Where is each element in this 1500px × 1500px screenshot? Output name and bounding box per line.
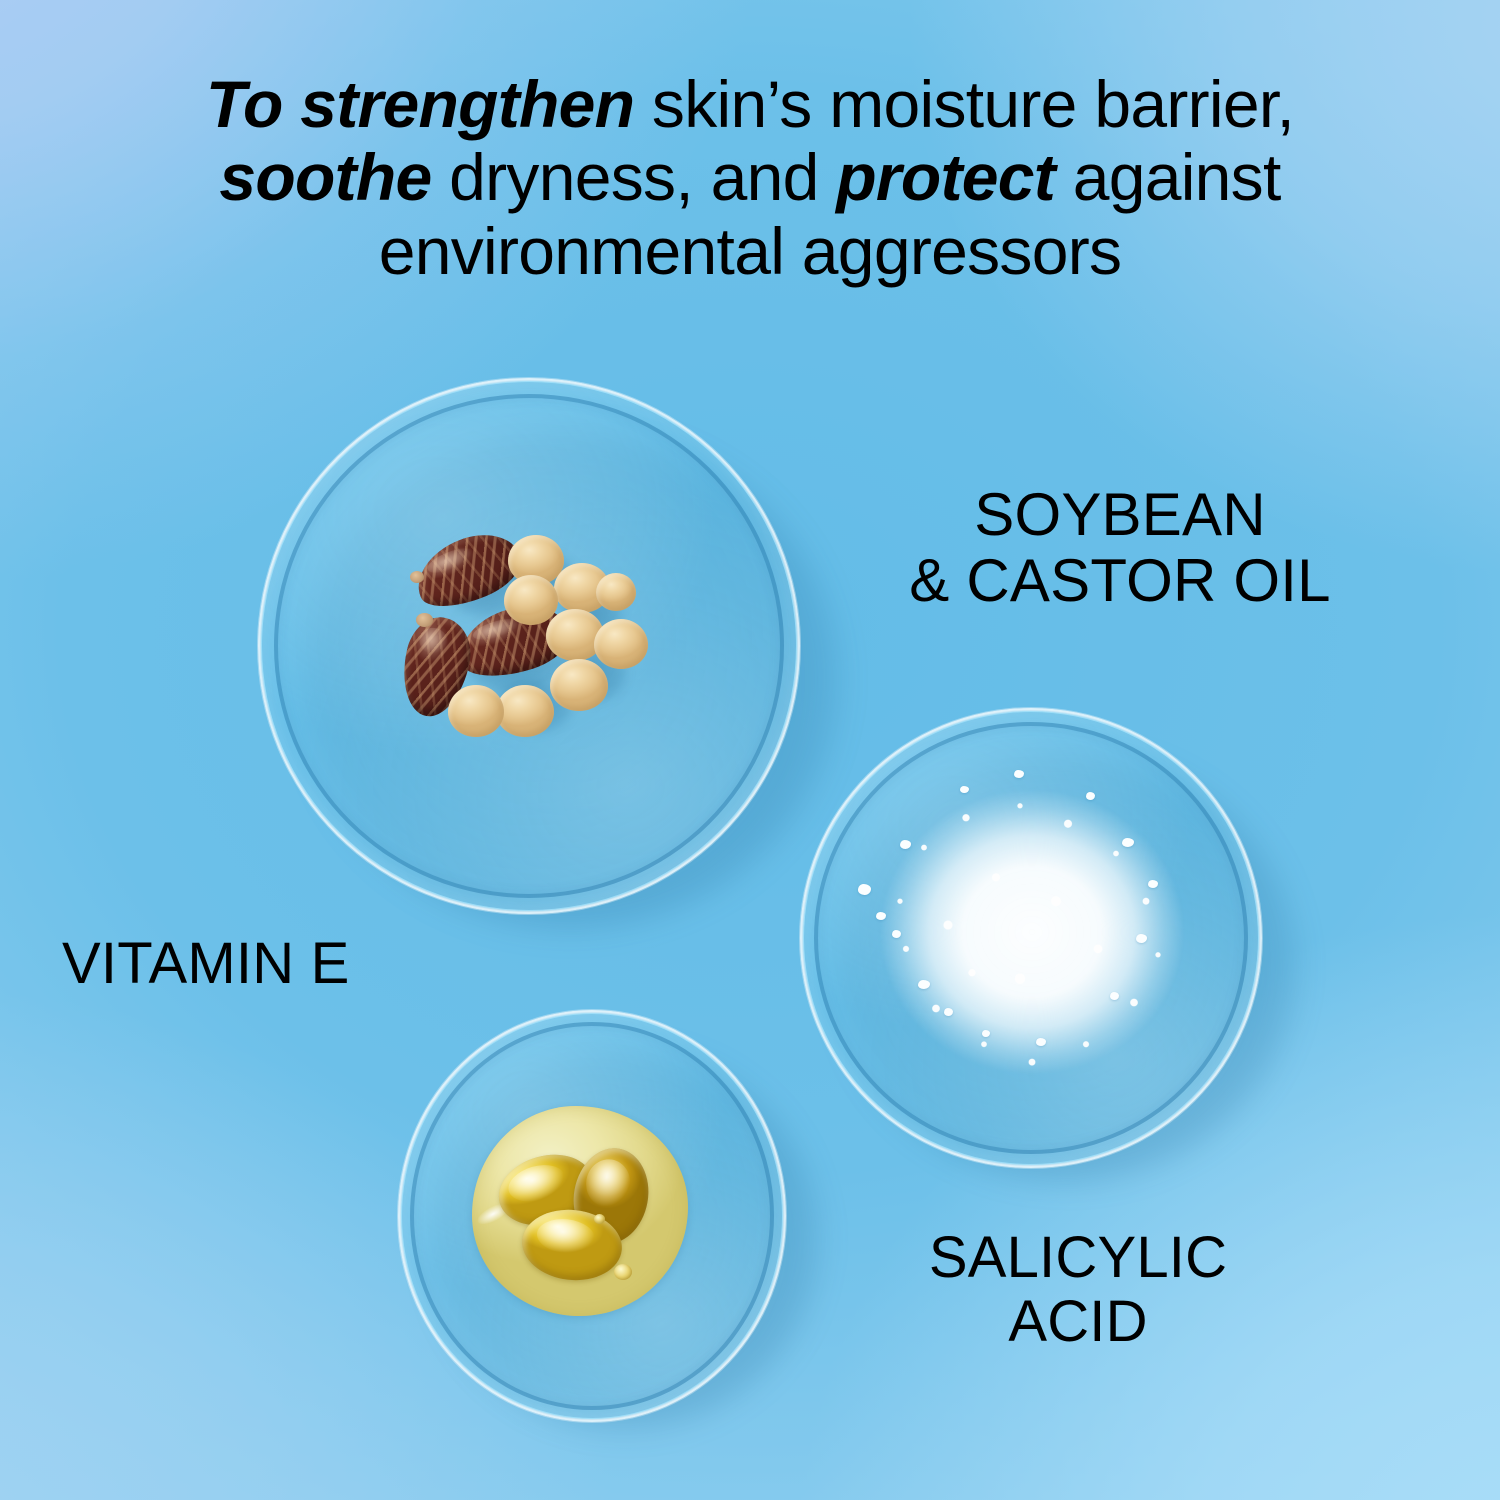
- salicylic-acid-dish: [800, 708, 1262, 1168]
- headline-emphasis-strengthen: To strengthen: [206, 67, 634, 141]
- headline-line-2: soothe dryness, and protect against: [70, 141, 1430, 214]
- soybean: [448, 685, 504, 737]
- soybean: [596, 573, 636, 611]
- oil-droplet: [614, 1264, 632, 1280]
- soybean: [550, 659, 608, 711]
- vitamin-e-dish: [398, 1010, 786, 1422]
- capsule-gloss: [582, 1156, 634, 1211]
- vitamin-e-oil-pool: [472, 1106, 688, 1316]
- headline-emphasis-protect: protect: [836, 140, 1055, 214]
- capsule-gloss: [504, 1159, 569, 1208]
- salicylic-acid-powder-grains: [882, 782, 1182, 1080]
- headline: To strengthen skin’s moisture barrier, s…: [0, 68, 1500, 288]
- headline-line-3: environmental aggressors: [70, 215, 1430, 288]
- castor-bean-caruncle: [410, 571, 424, 583]
- capsule-gloss: [535, 1216, 596, 1256]
- ingredient-infographic: To strengthen skin’s moisture barrier, s…: [0, 0, 1500, 1500]
- soybean: [496, 685, 554, 737]
- headline-emphasis-soothe: soothe: [219, 140, 431, 214]
- label-salicylic-acid: SALICYLIC ACID: [838, 1226, 1318, 1354]
- label-soybean-castor-oil: SOYBEAN & CASTOR OIL: [830, 482, 1410, 614]
- headline-line-1: To strengthen skin’s moisture barrier,: [70, 68, 1430, 141]
- soybean: [594, 619, 648, 669]
- castor-bean-caruncle: [416, 613, 433, 627]
- soybean-castor-dish: [258, 378, 800, 914]
- headline-line-2-rest: against: [1055, 140, 1281, 214]
- soybean-castor-contents: [408, 533, 668, 763]
- headline-line-1-rest: skin’s moisture barrier,: [634, 67, 1294, 141]
- headline-line-2-mid: dryness, and: [432, 140, 837, 214]
- oil-droplet: [594, 1214, 605, 1224]
- soybean: [504, 575, 558, 625]
- label-vitamin-e: VITAMIN E: [62, 932, 350, 996]
